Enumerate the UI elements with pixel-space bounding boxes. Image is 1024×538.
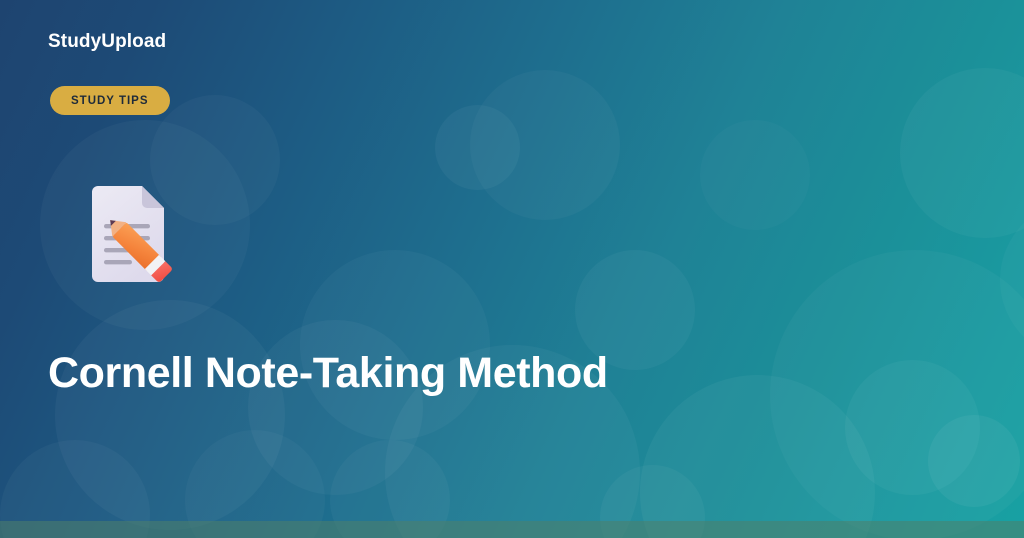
banner-content: StudyUpload STUDY TIPS [0, 0, 1024, 538]
article-hero-banner: StudyUpload STUDY TIPS [0, 0, 1024, 538]
category-badge-study-tips[interactable]: STUDY TIPS [50, 86, 170, 115]
brand-logo-text[interactable]: StudyUpload [48, 31, 166, 53]
page-title: Cornell Note-Taking Method [48, 349, 608, 398]
memo-note-pencil-icon [80, 182, 176, 290]
